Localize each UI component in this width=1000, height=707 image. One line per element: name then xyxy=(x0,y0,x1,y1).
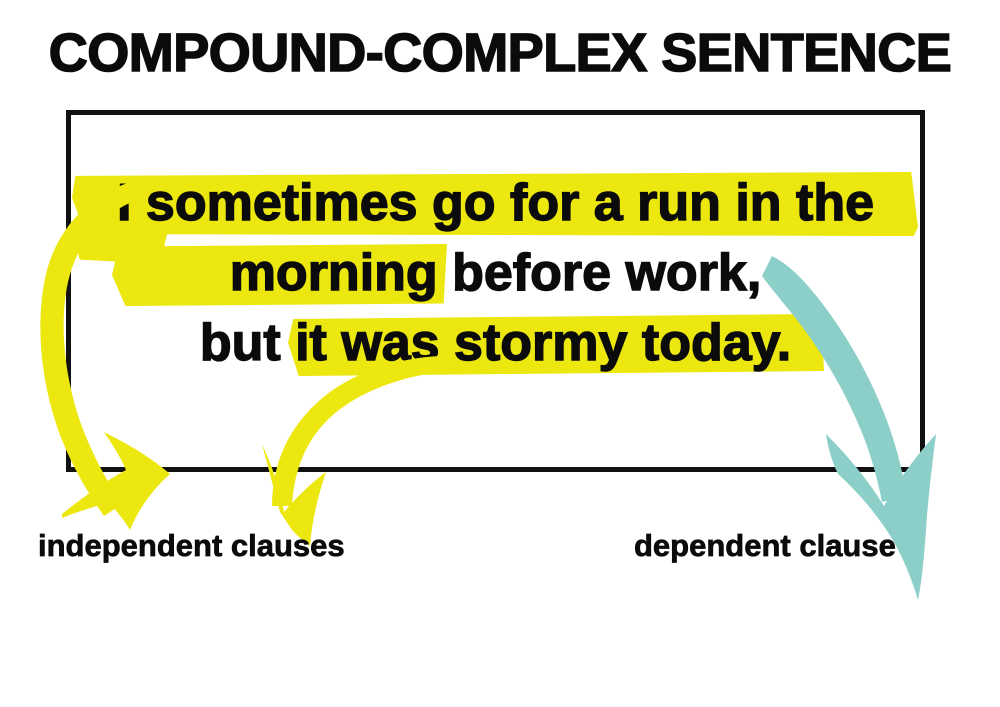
highlight-line-2 xyxy=(112,244,447,306)
compound-complex-sentence-poster: COMPOUND-COMPLEX SENTENCE I sometimes go… xyxy=(0,0,1000,707)
highlight-line-1 xyxy=(72,172,918,236)
page-title: COMPOUND-COMPLEX SENTENCE xyxy=(0,26,1000,80)
label-dependent-clause: dependent clause xyxy=(634,528,896,564)
label-independent-clauses: independent clauses xyxy=(38,528,345,564)
highlight-line-3 xyxy=(288,314,824,376)
